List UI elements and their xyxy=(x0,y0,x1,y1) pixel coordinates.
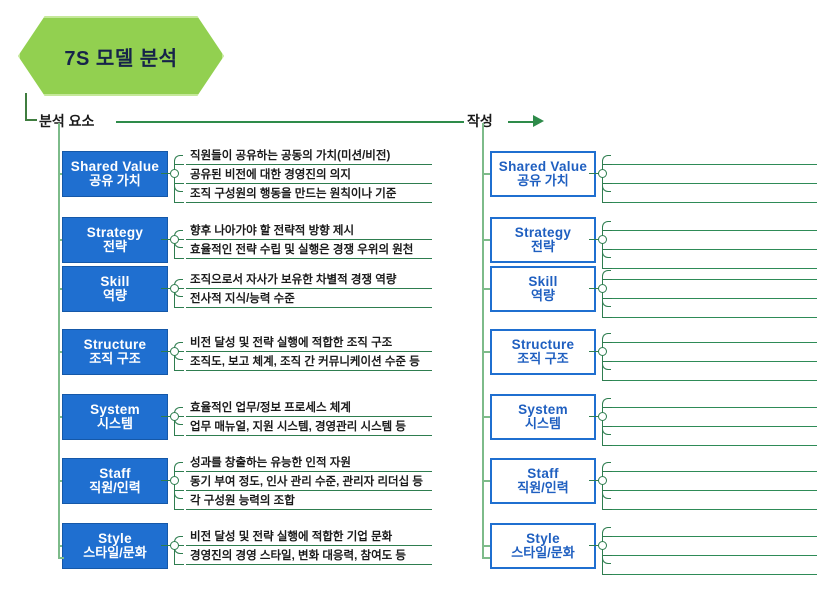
analysis-box-staff[interactable]: Staff직원/인력 xyxy=(62,458,168,504)
box-label-ko: 조직 구조 xyxy=(89,352,140,367)
worksheet-blank-line[interactable] xyxy=(612,453,817,472)
analysis-box-strategy[interactable]: Strategy전략 xyxy=(62,217,168,263)
analysis-box-shared-value[interactable]: Shared Value공유 가치 xyxy=(62,151,168,197)
worksheet-box-shared-value[interactable]: Shared Value공유 가치 xyxy=(490,151,596,197)
connector-node xyxy=(598,412,607,421)
box-label-en: Structure xyxy=(84,337,147,353)
box-label-en: Style xyxy=(98,531,132,547)
page-title: 7S 모델 분석 xyxy=(64,42,177,71)
header-arrow-shaft xyxy=(508,121,534,123)
analysis-item-line: 조직도, 보고 체계, 조직 간 커뮤니케이션 수준 등 xyxy=(186,352,432,371)
worksheet-blank-line[interactable] xyxy=(612,472,817,491)
title-connector-elbow xyxy=(25,93,37,121)
analysis-item-line: 공유된 비전에 대한 경영진의 의지 xyxy=(186,165,432,184)
box-label-ko: 공유 가치 xyxy=(517,174,568,189)
connector-node xyxy=(598,476,607,485)
box-label-ko: 직원/인력 xyxy=(89,481,140,496)
connector-node xyxy=(170,476,179,485)
box-label-en: Style xyxy=(526,531,560,547)
analysis-item-line: 성과를 창출하는 유능한 인적 자원 xyxy=(186,453,432,472)
box-label-ko: 스타일/문화 xyxy=(83,546,146,561)
connector-node xyxy=(598,169,607,178)
box-label-ko: 스타일/문화 xyxy=(511,546,574,561)
worksheet-box-structure[interactable]: Structure조직 구조 xyxy=(490,329,596,375)
diagram-canvas: 7S 모델 분석 분석 요소 작성 Shared Value공유 가치직원들이 … xyxy=(0,0,822,593)
worksheet-blank-line[interactable] xyxy=(612,212,817,231)
box-label-ko: 조직 구조 xyxy=(517,352,568,367)
spine-foot xyxy=(482,557,490,559)
worksheet-blank-line[interactable] xyxy=(612,299,817,318)
analysis-item-line: 전사적 지식/능력 수준 xyxy=(186,289,432,308)
worksheet-blank-line[interactable] xyxy=(612,231,817,250)
box-label-ko: 직원/인력 xyxy=(517,481,568,496)
arrow-right-icon xyxy=(533,115,544,127)
box-label-en: Shared Value xyxy=(499,159,587,175)
worksheet-blank-line[interactable] xyxy=(612,165,817,184)
box-label-ko: 역량 xyxy=(531,289,555,304)
analysis-item-line: 비전 달성 및 전략 실행에 적합한 기업 문화 xyxy=(186,527,432,546)
connector-node xyxy=(170,284,179,293)
row-connector-stub xyxy=(482,173,490,175)
worksheet-blank-line[interactable] xyxy=(612,362,817,381)
worksheet-box-style[interactable]: Style스타일/문화 xyxy=(490,523,596,569)
connector-node xyxy=(170,412,179,421)
box-label-en: Staff xyxy=(99,466,131,482)
worksheet-blank-line[interactable] xyxy=(612,324,817,343)
box-label-en: System xyxy=(518,402,568,418)
worksheet-blank-line[interactable] xyxy=(612,184,817,203)
row-connector-stub xyxy=(482,416,490,418)
analysis-box-structure[interactable]: Structure조직 구조 xyxy=(62,329,168,375)
column-header-analysis: 분석 요소 xyxy=(39,111,94,131)
column-header-worksheet: 작성 xyxy=(467,111,493,131)
analysis-item-line: 조직으로서 자사가 보유한 차별적 경쟁 역량 xyxy=(186,270,432,289)
worksheet-blank-line[interactable] xyxy=(612,537,817,556)
worksheet-box-system[interactable]: System시스템 xyxy=(490,394,596,440)
worksheet-blank-line[interactable] xyxy=(612,518,817,537)
worksheet-blank-line[interactable] xyxy=(612,427,817,446)
connector-node xyxy=(598,347,607,356)
box-label-en: Skill xyxy=(528,274,557,290)
worksheet-blank-line[interactable] xyxy=(612,491,817,510)
analysis-item-line: 효율적인 업무/정보 프로세스 체계 xyxy=(186,398,432,417)
worksheet-blank-line[interactable] xyxy=(612,556,817,575)
analysis-box-system[interactable]: System시스템 xyxy=(62,394,168,440)
box-label-en: Structure xyxy=(512,337,575,353)
worksheet-blank-line[interactable] xyxy=(612,146,817,165)
analysis-box-skill[interactable]: Skill역량 xyxy=(62,266,168,312)
row-connector-stub xyxy=(482,239,490,241)
analysis-item-line: 조직 구성원의 행동을 만드는 원칙이나 기준 xyxy=(186,184,432,203)
title-chevron: 7S 모델 분석 xyxy=(18,16,224,96)
row-connector-stub xyxy=(482,480,490,482)
row-connector-stub xyxy=(482,351,490,353)
analysis-item-line: 업무 매뉴얼, 지원 시스템, 경영관리 시스템 등 xyxy=(186,417,432,436)
analysis-item-line: 비전 달성 및 전략 실행에 적합한 조직 구조 xyxy=(186,333,432,352)
worksheet-box-strategy[interactable]: Strategy전략 xyxy=(490,217,596,263)
worksheet-blank-line[interactable] xyxy=(612,280,817,299)
box-label-ko: 전략 xyxy=(531,240,555,255)
worksheet-box-skill[interactable]: Skill역량 xyxy=(490,266,596,312)
connector-node xyxy=(170,235,179,244)
box-label-en: Strategy xyxy=(515,225,571,241)
box-label-en: Shared Value xyxy=(71,159,159,175)
row-connector-stub xyxy=(482,288,490,290)
worksheet-blank-line[interactable] xyxy=(612,261,817,280)
analysis-item-line: 경영진의 경영 스타일, 변화 대응력, 참여도 등 xyxy=(186,546,432,565)
analysis-item-line: 향후 나아가야 할 전략적 방향 제시 xyxy=(186,221,432,240)
worksheet-blank-line[interactable] xyxy=(612,408,817,427)
connector-node xyxy=(598,284,607,293)
analysis-item-line: 각 구성원 능력의 조합 xyxy=(186,491,432,510)
analysis-item-line: 직원들이 공유하는 공동의 가치(미션/비전) xyxy=(186,146,432,165)
box-label-en: Staff xyxy=(527,466,559,482)
box-label-en: System xyxy=(90,402,140,418)
row-connector-stub xyxy=(482,545,490,547)
analysis-box-style[interactable]: Style스타일/문화 xyxy=(62,523,168,569)
box-label-en: Strategy xyxy=(87,225,143,241)
connector-node xyxy=(170,347,179,356)
connector-node xyxy=(170,541,179,550)
box-label-ko: 공유 가치 xyxy=(89,174,140,189)
worksheet-blank-line[interactable] xyxy=(612,343,817,362)
spine-foot xyxy=(58,557,64,559)
connector-node xyxy=(598,541,607,550)
box-label-ko: 시스템 xyxy=(97,417,133,432)
worksheet-box-staff[interactable]: Staff직원/인력 xyxy=(490,458,596,504)
connector-node xyxy=(598,235,607,244)
box-label-ko: 전략 xyxy=(103,240,127,255)
box-label-ko: 역량 xyxy=(103,289,127,304)
box-label-ko: 시스템 xyxy=(525,417,561,432)
analysis-spine xyxy=(58,123,60,557)
worksheet-blank-line[interactable] xyxy=(612,389,817,408)
worksheet-spine xyxy=(482,123,484,557)
analysis-item-line: 효율적인 전략 수립 및 실행은 경쟁 우위의 원천 xyxy=(186,240,432,259)
header-rail-line xyxy=(116,121,464,123)
analysis-item-line: 동기 부여 정도, 인사 관리 수준, 관리자 리더십 등 xyxy=(186,472,432,491)
connector-node xyxy=(170,169,179,178)
box-label-en: Skill xyxy=(100,274,129,290)
